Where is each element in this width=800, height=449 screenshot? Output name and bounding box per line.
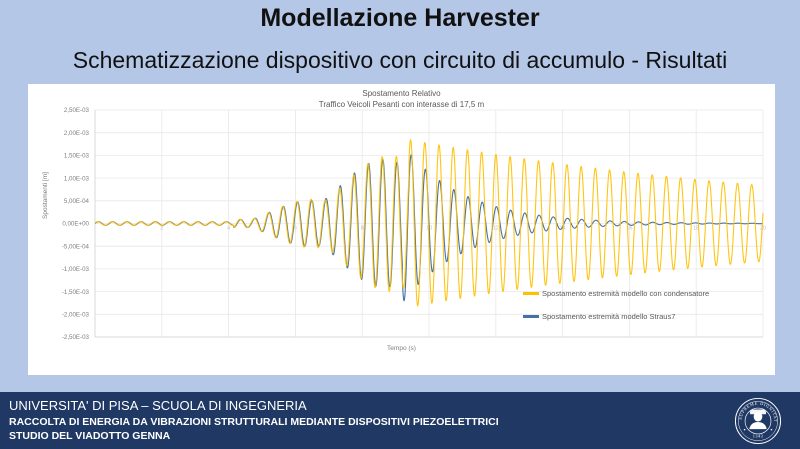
seal-year: 1343 <box>753 433 764 438</box>
y-tick-label: 2,00E-03 <box>64 130 90 137</box>
page-title: Modellazione Harvester <box>0 4 800 33</box>
x-tick-label: 6 <box>294 226 297 232</box>
footer-bar: UNIVERSITA' DI PISA – SCUOLA DI INGEGNER… <box>0 392 800 449</box>
legend-item-condensatore: Spostamento estremità modello con conden… <box>523 289 773 298</box>
footer-project-title: RACCOLTA DI ENERGIA DA VIBRAZIONI STRUTT… <box>9 416 499 428</box>
x-tick-label: 20 <box>760 226 766 232</box>
legend-label-straus7: Spostamento estremità modello Straus7 <box>542 312 675 321</box>
university-seal-icon: IN SUPREME DIGNITATIS 1343 <box>734 397 782 445</box>
x-tick-label: 4 <box>227 226 230 232</box>
legend-swatch-condensatore <box>523 292 539 295</box>
footer-project-subtitle: STUDIO DEL VIADOTTO GENNA <box>9 430 170 442</box>
page-subtitle: Schematizzazione dispositivo con circuit… <box>0 47 800 74</box>
legend-label-condensatore: Spostamento estremità modello con conden… <box>542 289 709 298</box>
y-tick-label: -5,00E-04 <box>62 243 90 250</box>
legend-item-straus7: Spostamento estremità modello Straus7 <box>523 312 773 321</box>
y-tick-label: 0,00E+00 <box>62 221 89 228</box>
x-tick-label: 8 <box>361 226 364 232</box>
y-tick-label: 2,50E-03 <box>64 107 90 114</box>
y-tick-label: 1,50E-03 <box>64 153 90 160</box>
footer-spacer <box>0 375 800 392</box>
slide-root: Modellazione Harvester Schematizzazione … <box>0 0 800 449</box>
chart-legend: Spostamento estremità modello con conden… <box>523 289 773 335</box>
y-tick-label: 5,00E-04 <box>64 198 90 205</box>
x-tick-label: 2 <box>160 226 163 232</box>
chart-card: Spostamento Relativo Traffico Veicoli Pe… <box>28 84 775 375</box>
footer-university: UNIVERSITA' DI PISA – SCUOLA DI INGEGNER… <box>9 398 307 413</box>
y-tick-label: -2,50E-03 <box>62 334 90 341</box>
legend-swatch-straus7 <box>523 315 539 318</box>
y-tick-label: -2,00E-03 <box>62 312 90 319</box>
y-tick-label: -1,50E-03 <box>62 289 90 296</box>
y-tick-label: 1,00E-03 <box>64 175 90 182</box>
y-tick-label: -1,00E-03 <box>62 266 90 273</box>
x-tick-label: 12 <box>493 226 499 232</box>
